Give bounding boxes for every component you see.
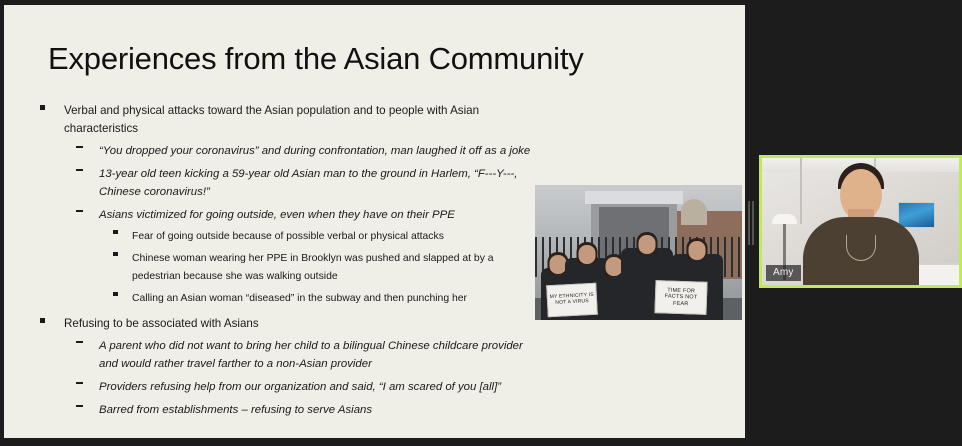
list-item: Providers refusing help from our organiz…: [64, 377, 534, 395]
dash-bullet-icon: [76, 382, 83, 384]
bullet-text: Providers refusing help from our organiz…: [99, 381, 501, 393]
protest-sign-left: MY ETHNICITY IS NOT A VIRUS: [546, 283, 598, 318]
bullet-text: “You dropped your coronavirus” and durin…: [99, 145, 530, 157]
list-item: Fear of going outside because of possibl…: [99, 226, 534, 244]
protester-head: [550, 255, 567, 274]
dash-bullet-icon: [76, 210, 83, 212]
presentation-slide[interactable]: Experiences from the Asian Community Ver…: [4, 5, 745, 438]
bullet-text: Refusing to be associated with Asians: [64, 317, 259, 330]
bullet-text: Verbal and physical attacks toward the A…: [64, 104, 479, 135]
room-wall-edge: [800, 158, 802, 224]
bullet-text: Calling an Asian woman “diseased” in the…: [132, 293, 467, 304]
floor-lamp-shade: [772, 214, 797, 224]
dash-bullet-icon: [76, 146, 83, 148]
participant-name-label: Amy: [766, 265, 801, 281]
list-item: A parent who did not want to bring her c…: [64, 336, 534, 372]
square-bullet-icon: [40, 318, 45, 323]
slide-body: Verbal and physical attacks toward the A…: [34, 101, 534, 423]
panel-resize-handle[interactable]: [745, 0, 759, 446]
bullet-list-level-1: Verbal and physical attacks toward the A…: [34, 101, 534, 418]
list-item: Calling an Asian woman “diseased” in the…: [99, 288, 534, 306]
list-item: 13-year old teen kicking a 59-year old A…: [64, 164, 534, 200]
protester-head: [606, 257, 623, 276]
list-item: Chinese woman wearing her PPE in Brookly…: [99, 248, 534, 284]
bullet-list-level-2: “You dropped your coronavirus” and durin…: [64, 141, 534, 306]
list-item: Verbal and physical attacks toward the A…: [34, 101, 534, 306]
bullet-text: A parent who did not want to bring her c…: [99, 340, 523, 370]
list-item: Asians victimized for going outside, eve…: [64, 205, 534, 306]
bullet-list-level-3: Fear of going outside because of possibl…: [99, 226, 534, 306]
dash-bullet-icon: [76, 169, 83, 171]
bullet-text: Chinese woman wearing her PPE in Brookly…: [132, 253, 494, 282]
list-item: “You dropped your coronavirus” and durin…: [64, 141, 534, 159]
square-bullet-icon: [40, 105, 45, 110]
photo-protesters: MY ETHNICITY IS NOT A VIRUS TIME FOR FAC…: [535, 242, 742, 320]
participant-video-panel: Amy: [759, 0, 962, 446]
slide-photo-protest: MY ETHNICITY IS NOT A VIRUS TIME FOR FAC…: [535, 185, 742, 320]
list-item: Barred from establishments – refusing to…: [64, 400, 534, 418]
page-title: Experiences from the Asian Community: [48, 41, 584, 77]
photo-dome: [681, 199, 707, 225]
square-bullet-icon: [113, 230, 118, 235]
participant-tile-amy[interactable]: Amy: [759, 155, 962, 288]
drag-handle-icon[interactable]: [749, 201, 756, 245]
bullet-list-level-2: A parent who did not want to bring her c…: [64, 336, 534, 418]
dash-bullet-icon: [76, 341, 83, 343]
protest-sign-right: TIME FOR FACTS NOT FEAR: [654, 280, 707, 315]
protester-head: [689, 241, 706, 260]
shared-content-stage: Experiences from the Asian Community Ver…: [0, 0, 745, 446]
bullet-text: Barred from establishments – refusing to…: [99, 404, 372, 416]
protester-head: [639, 235, 656, 254]
square-bullet-icon: [113, 252, 118, 257]
square-bullet-icon: [113, 292, 118, 297]
dash-bullet-icon: [76, 405, 83, 407]
wall-artwork: [898, 202, 935, 228]
screen-share-view: Experiences from the Asian Community Ver…: [0, 0, 962, 446]
bullet-text: 13-year old teen kicking a 59-year old A…: [99, 168, 517, 198]
protester-head: [579, 245, 596, 264]
list-item: Refusing to be associated with Asians A …: [34, 314, 534, 418]
bullet-text: Fear of going outside because of possibl…: [132, 231, 444, 242]
bullet-text: Asians victimized for going outside, eve…: [99, 209, 455, 221]
